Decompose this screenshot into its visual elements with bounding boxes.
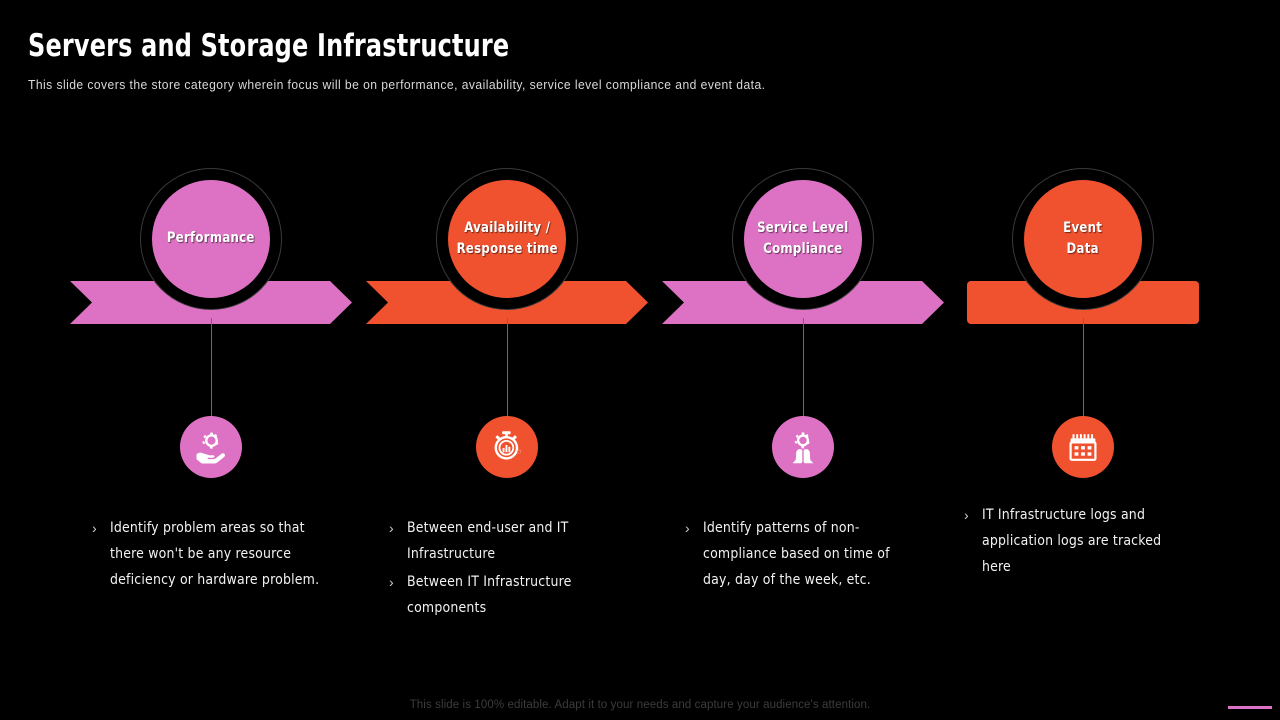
list-item: › Identify patterns of non-compliance ba… (685, 515, 900, 593)
stopwatch-analytics-gear-icon (489, 429, 525, 465)
stage-node-event-data[interactable]: Event Data (1012, 168, 1154, 310)
icon-circle-availability-response-time[interactable] (476, 416, 538, 478)
connector-line-event-data (1083, 318, 1084, 418)
chevron-right-icon: › (685, 515, 703, 541)
stage-disc: Service Level Compliance (744, 180, 862, 298)
chevron-right-icon: › (964, 502, 982, 528)
chevron-right-icon: › (389, 569, 407, 595)
connector-line-performance (211, 318, 212, 418)
footer-accent-bar (1228, 706, 1272, 709)
stage-node-service-level-compliance[interactable]: Service Level Compliance (732, 168, 874, 310)
stage-node-performance[interactable]: Performance (140, 168, 282, 310)
stage-disc: Performance (152, 180, 270, 298)
page-subtitle: This slide covers the store category whe… (28, 78, 765, 92)
icon-circle-event-data[interactable] (1052, 416, 1114, 478)
stage-node-availability-response-time[interactable]: Availability / Response time (436, 168, 578, 310)
slide-canvas: Servers and Storage Infrastructure This … (0, 0, 1280, 720)
icon-circle-performance[interactable] (180, 416, 242, 478)
list-item: › Between IT Infrastructure components (389, 569, 589, 621)
bullet-block-performance: › Identify problem areas so that there w… (92, 515, 332, 595)
list-item: › Identify problem areas so that there w… (92, 515, 332, 593)
hand-holding-gear-icon (194, 430, 228, 464)
page-title: Servers and Storage Infrastructure (28, 28, 509, 64)
stage-label: Service Level Compliance (757, 218, 848, 260)
list-item-text: IT Infrastructure logs and application l… (982, 502, 1171, 580)
list-item: › Between end-user and IT Infrastructure (389, 515, 589, 567)
list-item: › IT Infrastructure logs and application… (964, 502, 1179, 580)
bullet-block-event-data: › IT Infrastructure logs and application… (964, 502, 1179, 582)
hands-holding-gear-icon (786, 430, 820, 464)
list-item-text: Identify problem areas so that there won… (110, 515, 323, 593)
calendar-icon (1067, 431, 1099, 463)
stage-label: Availability / Response time (456, 218, 557, 260)
list-item-text: Identify patterns of non-compliance base… (703, 515, 892, 593)
footer-note: This slide is 100% editable. Adapt it to… (0, 699, 1280, 711)
stage-label: Performance (167, 228, 255, 249)
stage-label: Event Data (1064, 218, 1103, 260)
stage-disc: Availability / Response time (448, 180, 566, 298)
bullet-block-service-level-compliance: › Identify patterns of non-compliance ba… (685, 515, 900, 595)
connector-line-service-level-compliance (803, 318, 804, 418)
list-item-text: Between IT Infrastructure components (407, 569, 582, 621)
list-item-text: Between end-user and IT Infrastructure (407, 515, 582, 567)
stage-disc: Event Data (1024, 180, 1142, 298)
chevron-right-icon: › (389, 515, 407, 541)
chevron-right-icon: › (92, 515, 110, 541)
icon-circle-service-level-compliance[interactable] (772, 416, 834, 478)
bullet-block-availability-response-time: › Between end-user and IT Infrastructure… (389, 515, 589, 623)
connector-line-availability-response-time (507, 318, 508, 418)
